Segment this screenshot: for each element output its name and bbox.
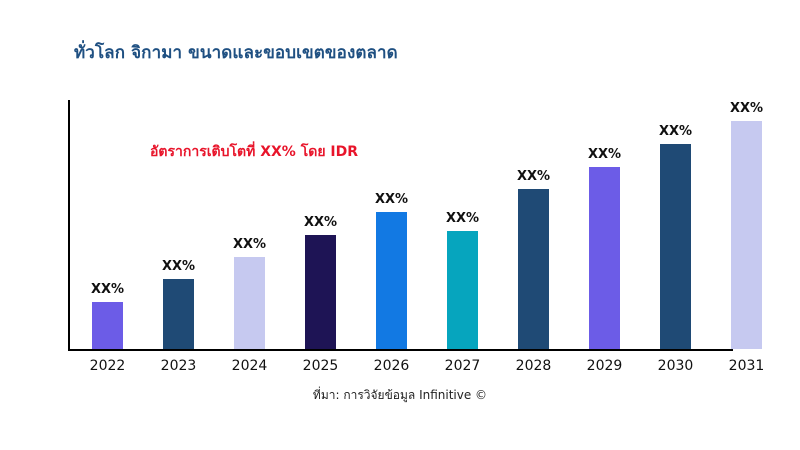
x-axis-tick-labels: 2022202320242025202620272028202920302031 <box>68 356 782 378</box>
bar-value-label: XX% <box>446 212 479 226</box>
bar-group-2022[interactable]: XX% <box>72 99 143 349</box>
bar-2022[interactable] <box>92 302 123 349</box>
bar-value-label: XX% <box>304 216 337 230</box>
bar-2026[interactable] <box>376 212 407 349</box>
x-tick-2022: 2022 <box>72 356 143 376</box>
plot-area: อัตราการเติบโตที่ XX% โดย IDR XX%XX%XX%X… <box>68 100 782 350</box>
bar-group-2025[interactable]: XX% <box>285 99 356 349</box>
x-tick-2027: 2027 <box>427 356 498 376</box>
x-tick-2030: 2030 <box>640 356 711 376</box>
bar-value-label: XX% <box>659 125 692 139</box>
bar-group-2027[interactable]: XX% <box>427 99 498 349</box>
chart-container: ทั่วโลก จิกามา ขนาดและขอบเขตของตลาด ล้าน… <box>0 0 800 450</box>
bar-2027[interactable] <box>447 231 478 349</box>
x-tick-2028: 2028 <box>498 356 569 376</box>
bars-layer: XX%XX%XX%XX%XX%XX%XX%XX%XX%XX% <box>68 100 782 350</box>
x-tick-2023: 2023 <box>143 356 214 376</box>
bar-value-label: XX% <box>162 260 195 274</box>
bar-2031[interactable] <box>731 121 762 349</box>
bar-group-2028[interactable]: XX% <box>498 99 569 349</box>
bar-group-2024[interactable]: XX% <box>214 99 285 349</box>
bar-2029[interactable] <box>589 167 620 349</box>
bar-2028[interactable] <box>518 189 549 349</box>
x-tick-2029: 2029 <box>569 356 640 376</box>
bar-group-2026[interactable]: XX% <box>356 99 427 349</box>
chart-title: ทั่วโลก จิกามา ขนาดและขอบเขตของตลาด <box>74 40 398 66</box>
bar-2025[interactable] <box>305 235 336 349</box>
x-tick-2031: 2031 <box>711 356 782 376</box>
bar-2023[interactable] <box>163 279 194 349</box>
bar-group-2023[interactable]: XX% <box>143 99 214 349</box>
bar-group-2029[interactable]: XX% <box>569 99 640 349</box>
bar-value-label: XX% <box>588 148 621 162</box>
bar-value-label: XX% <box>375 193 408 207</box>
bar-2024[interactable] <box>234 257 265 349</box>
x-tick-2025: 2025 <box>285 356 356 376</box>
bar-value-label: XX% <box>233 238 266 252</box>
x-tick-2026: 2026 <box>356 356 427 376</box>
bar-value-label: XX% <box>91 283 124 297</box>
bar-group-2031[interactable]: XX% <box>711 99 782 349</box>
bar-value-label: XX% <box>730 102 763 116</box>
bar-value-label: XX% <box>517 170 550 184</box>
bar-2030[interactable] <box>660 144 691 349</box>
x-tick-2024: 2024 <box>214 356 285 376</box>
source-note: ที่มา: การวิจัยข้อมูล Infinitive © <box>0 386 800 405</box>
bar-group-2030[interactable]: XX% <box>640 99 711 349</box>
